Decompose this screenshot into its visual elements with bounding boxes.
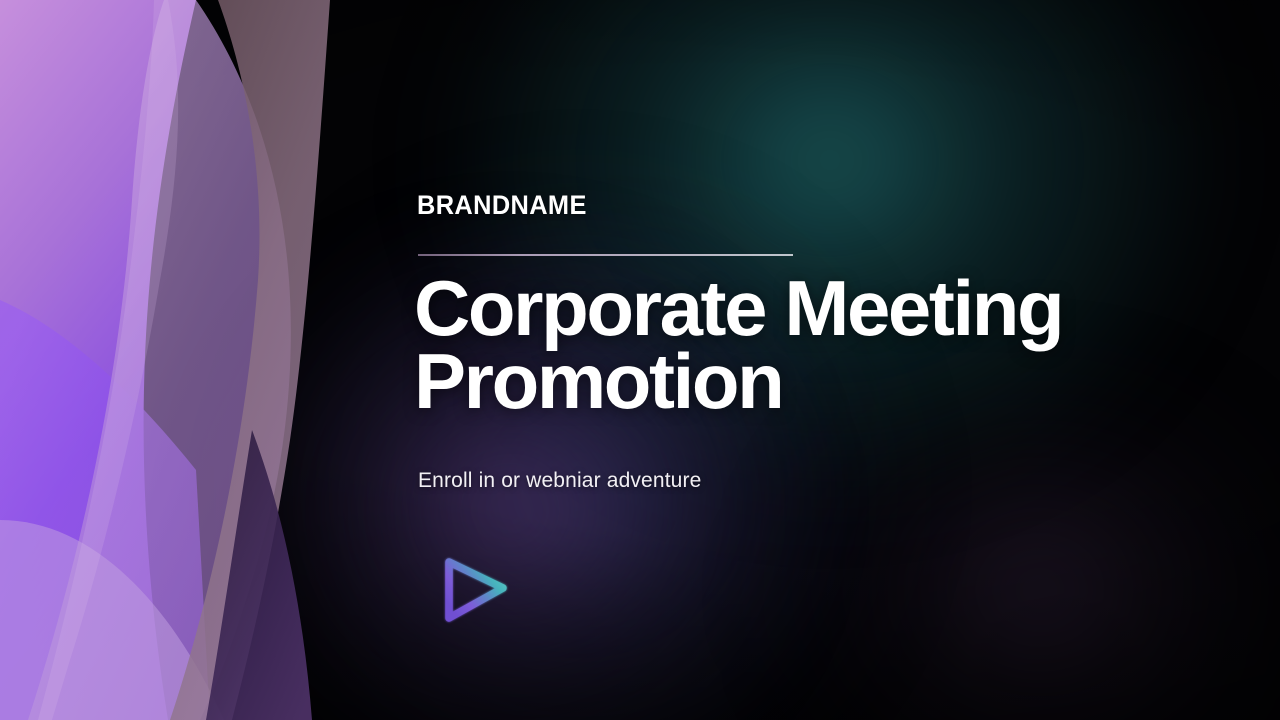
brand-name: BRANDNAME [417, 192, 587, 219]
promo-slide: BRANDNAME Corporate Meeting Promotion En… [0, 0, 1280, 720]
divider-rule [418, 254, 793, 256]
slide-content: BRANDNAME Corporate Meeting Promotion En… [417, 0, 1217, 720]
subtitle: Enroll in or webniar adventure [418, 468, 702, 493]
headline-line-2: Promotion [414, 345, 1194, 418]
page-title: Corporate Meeting Promotion [414, 272, 1194, 419]
abstract-purple-shapes [0, 0, 360, 720]
play-triangle-logo-icon [429, 548, 515, 634]
headline-line-1: Corporate Meeting [414, 272, 1194, 345]
